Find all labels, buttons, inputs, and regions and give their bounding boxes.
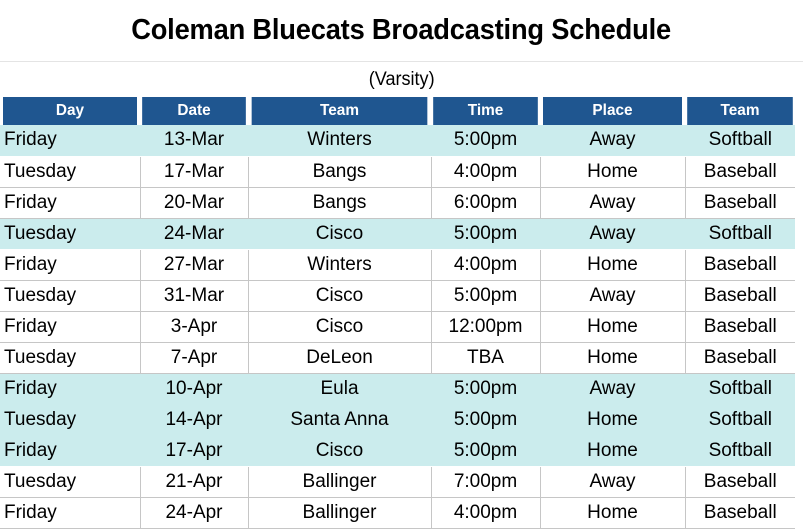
cell-time: 5:00pm [431,404,540,435]
title-row: Coleman Bluecats Broadcasting Schedule [0,0,803,62]
cell-sport: Baseball [685,311,795,342]
cell-date: 21-Apr [140,466,248,497]
cell-team: Cisco [248,218,431,249]
cell-place: Away [540,125,685,156]
cell-date: 3-Apr [140,311,248,342]
cell-team: DeLeon [248,342,431,373]
cell-place: Away [540,218,685,249]
cell-date: 24-Apr [140,497,248,528]
cell-time: 5:00pm [431,435,540,466]
cell-place: Home [540,249,685,280]
table-header-row: DayDateTeamTimePlaceTeam [0,97,795,125]
table-row[interactable]: Friday27-MarWinters4:00pmHomeBaseball [0,249,795,280]
cell-sport: Baseball [685,466,795,497]
cell-sport: Softball [685,218,795,249]
cell-day: Friday [0,187,140,218]
subtitle-row: (Varsity) [0,62,803,97]
cell-sport: Softball [685,373,795,404]
column-header-day[interactable]: Day [3,97,137,125]
cell-sport: Softball [685,404,795,435]
column-header-time[interactable]: Time [433,97,538,125]
table-row[interactable]: Tuesday31-MarCisco5:00pmAwayBaseball [0,280,795,311]
cell-day: Friday [0,373,140,404]
cell-time: 7:00pm [431,466,540,497]
cell-place: Away [540,187,685,218]
table-row[interactable]: Tuesday14-AprSanta Anna5:00pmHomeSoftbal… [0,404,795,435]
cell-team: Ballinger [248,466,431,497]
column-header-sport[interactable]: Team [687,97,793,125]
table-row[interactable]: Friday24-AprBallinger4:00pmHomeBaseball [0,497,795,528]
cell-time: 5:00pm [431,280,540,311]
cell-team: Cisco [248,435,431,466]
cell-place: Home [540,497,685,528]
table-header: DayDateTeamTimePlaceTeam [0,97,795,125]
table-row[interactable]: Friday10-AprEula5:00pmAwaySoftball [0,373,795,404]
cell-time: 5:00pm [431,125,540,156]
cell-team: Bangs [248,156,431,187]
column-header-team[interactable]: Team [252,97,428,125]
cell-time: 5:00pm [431,373,540,404]
cell-team: Ballinger [248,497,431,528]
cell-date: 24-Mar [140,218,248,249]
page-title: Coleman Bluecats Broadcasting Schedule [132,14,672,47]
table-row[interactable]: Tuesday17-MarBangs4:00pmHomeBaseball [0,156,795,187]
table-row[interactable]: Friday13-MarWinters5:00pmAwaySoftball [0,125,795,156]
cell-sport: Softball [685,125,795,156]
cell-team: Winters [248,249,431,280]
cell-date: 17-Mar [140,156,248,187]
cell-day: Friday [0,249,140,280]
cell-day: Friday [0,311,140,342]
cell-day: Tuesday [0,466,140,497]
cell-sport: Baseball [685,497,795,528]
cell-sport: Baseball [685,342,795,373]
cell-sport: Baseball [685,156,795,187]
table-row[interactable]: Friday20-MarBangs6:00pmAwayBaseball [0,187,795,218]
table-row[interactable]: Tuesday24-MarCisco5:00pmAwaySoftball [0,218,795,249]
cell-place: Away [540,373,685,404]
cell-date: 10-Apr [140,373,248,404]
cell-day: Tuesday [0,280,140,311]
cell-time: 4:00pm [431,497,540,528]
cell-date: 20-Mar [140,187,248,218]
table-row[interactable]: Friday3-AprCisco12:00pmHomeBaseball [0,311,795,342]
page-subtitle: (Varsity) [369,69,435,91]
table-row[interactable]: Friday17-AprCisco5:00pmHomeSoftball [0,435,795,466]
broadcasting-schedule-table: DayDateTeamTimePlaceTeam Friday13-MarWin… [0,97,795,529]
cell-time: 12:00pm [431,311,540,342]
cell-day: Tuesday [0,404,140,435]
cell-time: TBA [431,342,540,373]
cell-team: Santa Anna [248,404,431,435]
cell-day: Tuesday [0,342,140,373]
cell-date: 7-Apr [140,342,248,373]
table-row[interactable]: Tuesday21-AprBallinger7:00pmAwayBaseball [0,466,795,497]
cell-day: Tuesday [0,156,140,187]
cell-day: Friday [0,125,140,156]
cell-time: 4:00pm [431,156,540,187]
cell-sport: Baseball [685,187,795,218]
table-body: Friday13-MarWinters5:00pmAwaySoftballTue… [0,125,795,528]
cell-team: Cisco [248,311,431,342]
cell-sport: Baseball [685,249,795,280]
cell-place: Home [540,311,685,342]
schedule-sheet: Coleman Bluecats Broadcasting Schedule (… [0,0,803,532]
cell-team: Winters [248,125,431,156]
cell-date: 17-Apr [140,435,248,466]
table-row[interactable]: Tuesday7-AprDeLeonTBAHomeBaseball [0,342,795,373]
cell-team: Cisco [248,280,431,311]
cell-place: Home [540,404,685,435]
cell-date: 31-Mar [140,280,248,311]
cell-sport: Baseball [685,280,795,311]
cell-date: 27-Mar [140,249,248,280]
column-header-date[interactable]: Date [142,97,246,125]
cell-date: 13-Mar [140,125,248,156]
column-header-place[interactable]: Place [543,97,682,125]
cell-day: Friday [0,497,140,528]
cell-sport: Softball [685,435,795,466]
cell-time: 4:00pm [431,249,540,280]
cell-date: 14-Apr [140,404,248,435]
cell-place: Away [540,466,685,497]
cell-team: Eula [248,373,431,404]
cell-team: Bangs [248,187,431,218]
cell-time: 6:00pm [431,187,540,218]
cell-time: 5:00pm [431,218,540,249]
cell-place: Home [540,435,685,466]
cell-place: Home [540,342,685,373]
cell-place: Away [540,280,685,311]
cell-place: Home [540,156,685,187]
cell-day: Friday [0,435,140,466]
cell-day: Tuesday [0,218,140,249]
